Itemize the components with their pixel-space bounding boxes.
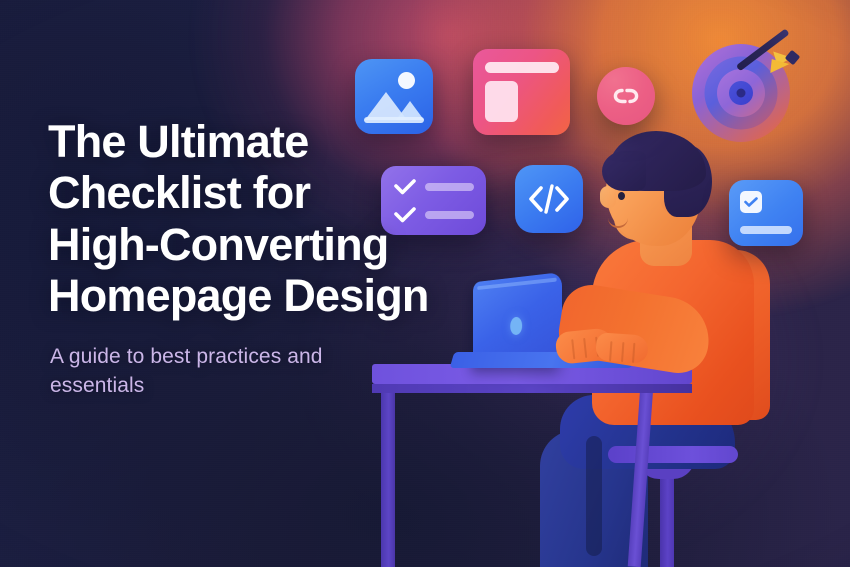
laptop-screen-highlight	[477, 278, 556, 290]
task-list-icon-checkbox	[740, 191, 762, 213]
task-list-icon[interactable]	[729, 180, 803, 246]
laptop-logo-icon	[511, 317, 523, 336]
hero-text-block: The Ultimate Checklist for High-Converti…	[48, 116, 478, 400]
person-hair	[600, 131, 710, 205]
target-icon[interactable]	[692, 44, 790, 142]
code-icon[interactable]	[515, 165, 583, 233]
headline-line-4: Homepage Design	[48, 270, 478, 321]
layout-card-icon[interactable]	[473, 49, 570, 135]
desk-leg	[381, 392, 395, 567]
layout-card-header-bar	[485, 62, 559, 73]
headline-line-2: Checklist for	[48, 167, 478, 218]
hero-banner: The Ultimate Checklist for High-Converti…	[0, 0, 850, 567]
person-leg-shading	[586, 436, 602, 556]
page-subtitle: A guide to best practices and essentials	[50, 343, 380, 400]
target-bullseye	[737, 89, 746, 98]
chair-seat	[608, 446, 738, 463]
headline-line-3: High-Converting	[48, 219, 478, 270]
headline-line-1: The Ultimate	[48, 116, 478, 167]
person-hair-fringe	[602, 151, 646, 191]
task-list-icon-footer-line	[740, 226, 792, 234]
arrow-icon-fletching-bottom	[770, 59, 789, 75]
link-icon[interactable]	[597, 67, 655, 125]
person-hand-right	[595, 332, 649, 364]
layout-card-thumbnail	[485, 81, 518, 122]
page-title: The Ultimate Checklist for High-Converti…	[48, 116, 478, 321]
image-icon-sun	[398, 72, 415, 89]
